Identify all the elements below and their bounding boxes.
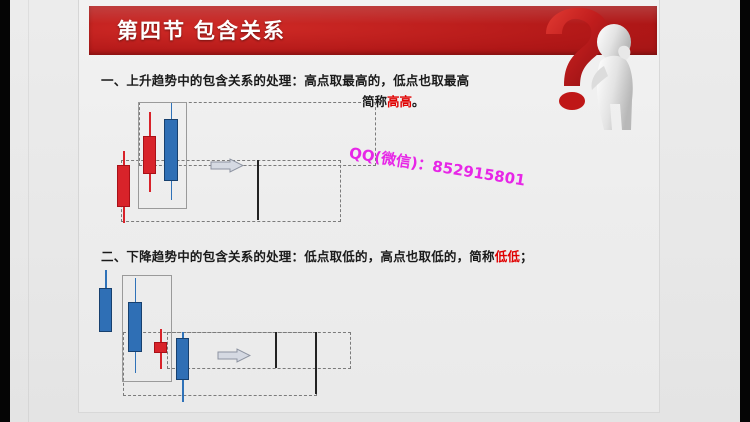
candle-1-body [117, 165, 130, 207]
merged-result-bar-2 [315, 332, 317, 394]
page-surround: 第四节 包含关系 [10, 0, 740, 422]
candle-3 [164, 103, 178, 200]
candle-2 [143, 112, 156, 192]
video-viewport: 第四节 包含关系 [0, 0, 750, 422]
transform-arrow-icon [210, 158, 244, 173]
section-two-highlight: 低低 [495, 250, 520, 264]
candle-1-body [99, 288, 112, 332]
section-two-text: 二、下降趋势中的包含关系的处理：低点取低的，高点也取低的，简称低低； [101, 248, 533, 267]
section-one-line2-suffix: 。 [412, 95, 425, 109]
candle-2-body [143, 136, 156, 174]
candle-3 [154, 329, 167, 369]
title-banner: 第四节 包含关系 [89, 6, 657, 55]
candle-2-body [128, 302, 142, 352]
presentation-slide: 第四节 包含关系 [78, 0, 660, 413]
section-one-line1: 一、上升趋势中的包含关系的处理：高点取最高的，低点也取最高 [101, 74, 469, 88]
section-two-prefix: 二、下降趋势中的包含关系的处理：低点取低的，高点也取低的，简称 [101, 250, 495, 264]
uptrend-containment-chart [109, 98, 409, 233]
candle-1 [99, 270, 112, 332]
candle-4-body [176, 338, 189, 380]
letterbox-left [0, 0, 10, 422]
candle-4 [176, 332, 189, 402]
candle-1 [117, 151, 130, 223]
section-one-text: 一、上升趋势中的包含关系的处理：高点取最高的，低点也取最高 [101, 72, 469, 91]
candle-3-body [154, 342, 167, 353]
merged-result-bar-1 [275, 332, 277, 368]
section-two-suffix: ； [520, 250, 533, 264]
merged-result-bar [257, 160, 259, 220]
downtrend-containment-chart [109, 270, 439, 410]
page-title: 第四节 包含关系 [117, 15, 286, 45]
candle-3-body [164, 119, 178, 181]
candle-2 [128, 278, 142, 373]
transform-arrow-icon [217, 348, 251, 363]
letterbox-right [740, 0, 750, 422]
